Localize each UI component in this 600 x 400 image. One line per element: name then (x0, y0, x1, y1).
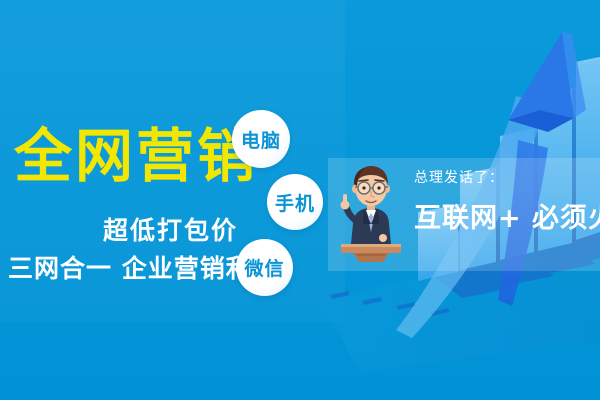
bubble-computer-label: 电脑 (241, 126, 281, 153)
marketing-banner: 全网营销 超低打包价 三网合一 企业营销利器 电脑 手机 微信 (0, 0, 600, 400)
speaker-figure (333, 158, 409, 263)
speech-lead-text: 总理发话了： (414, 167, 504, 187)
subtitle-line-1: 超低打包价 (103, 211, 238, 247)
bubble-mobile[interactable]: 手机 (267, 174, 323, 230)
bubble-computer[interactable]: 电脑 (232, 110, 290, 168)
speech-quote-text: 互联网+ 必须火起来 (414, 196, 600, 235)
bubble-mobile-label: 手机 (275, 189, 315, 216)
bubble-wechat-label: 微信 (244, 254, 284, 281)
bubble-wechat[interactable]: 微信 (236, 239, 293, 296)
